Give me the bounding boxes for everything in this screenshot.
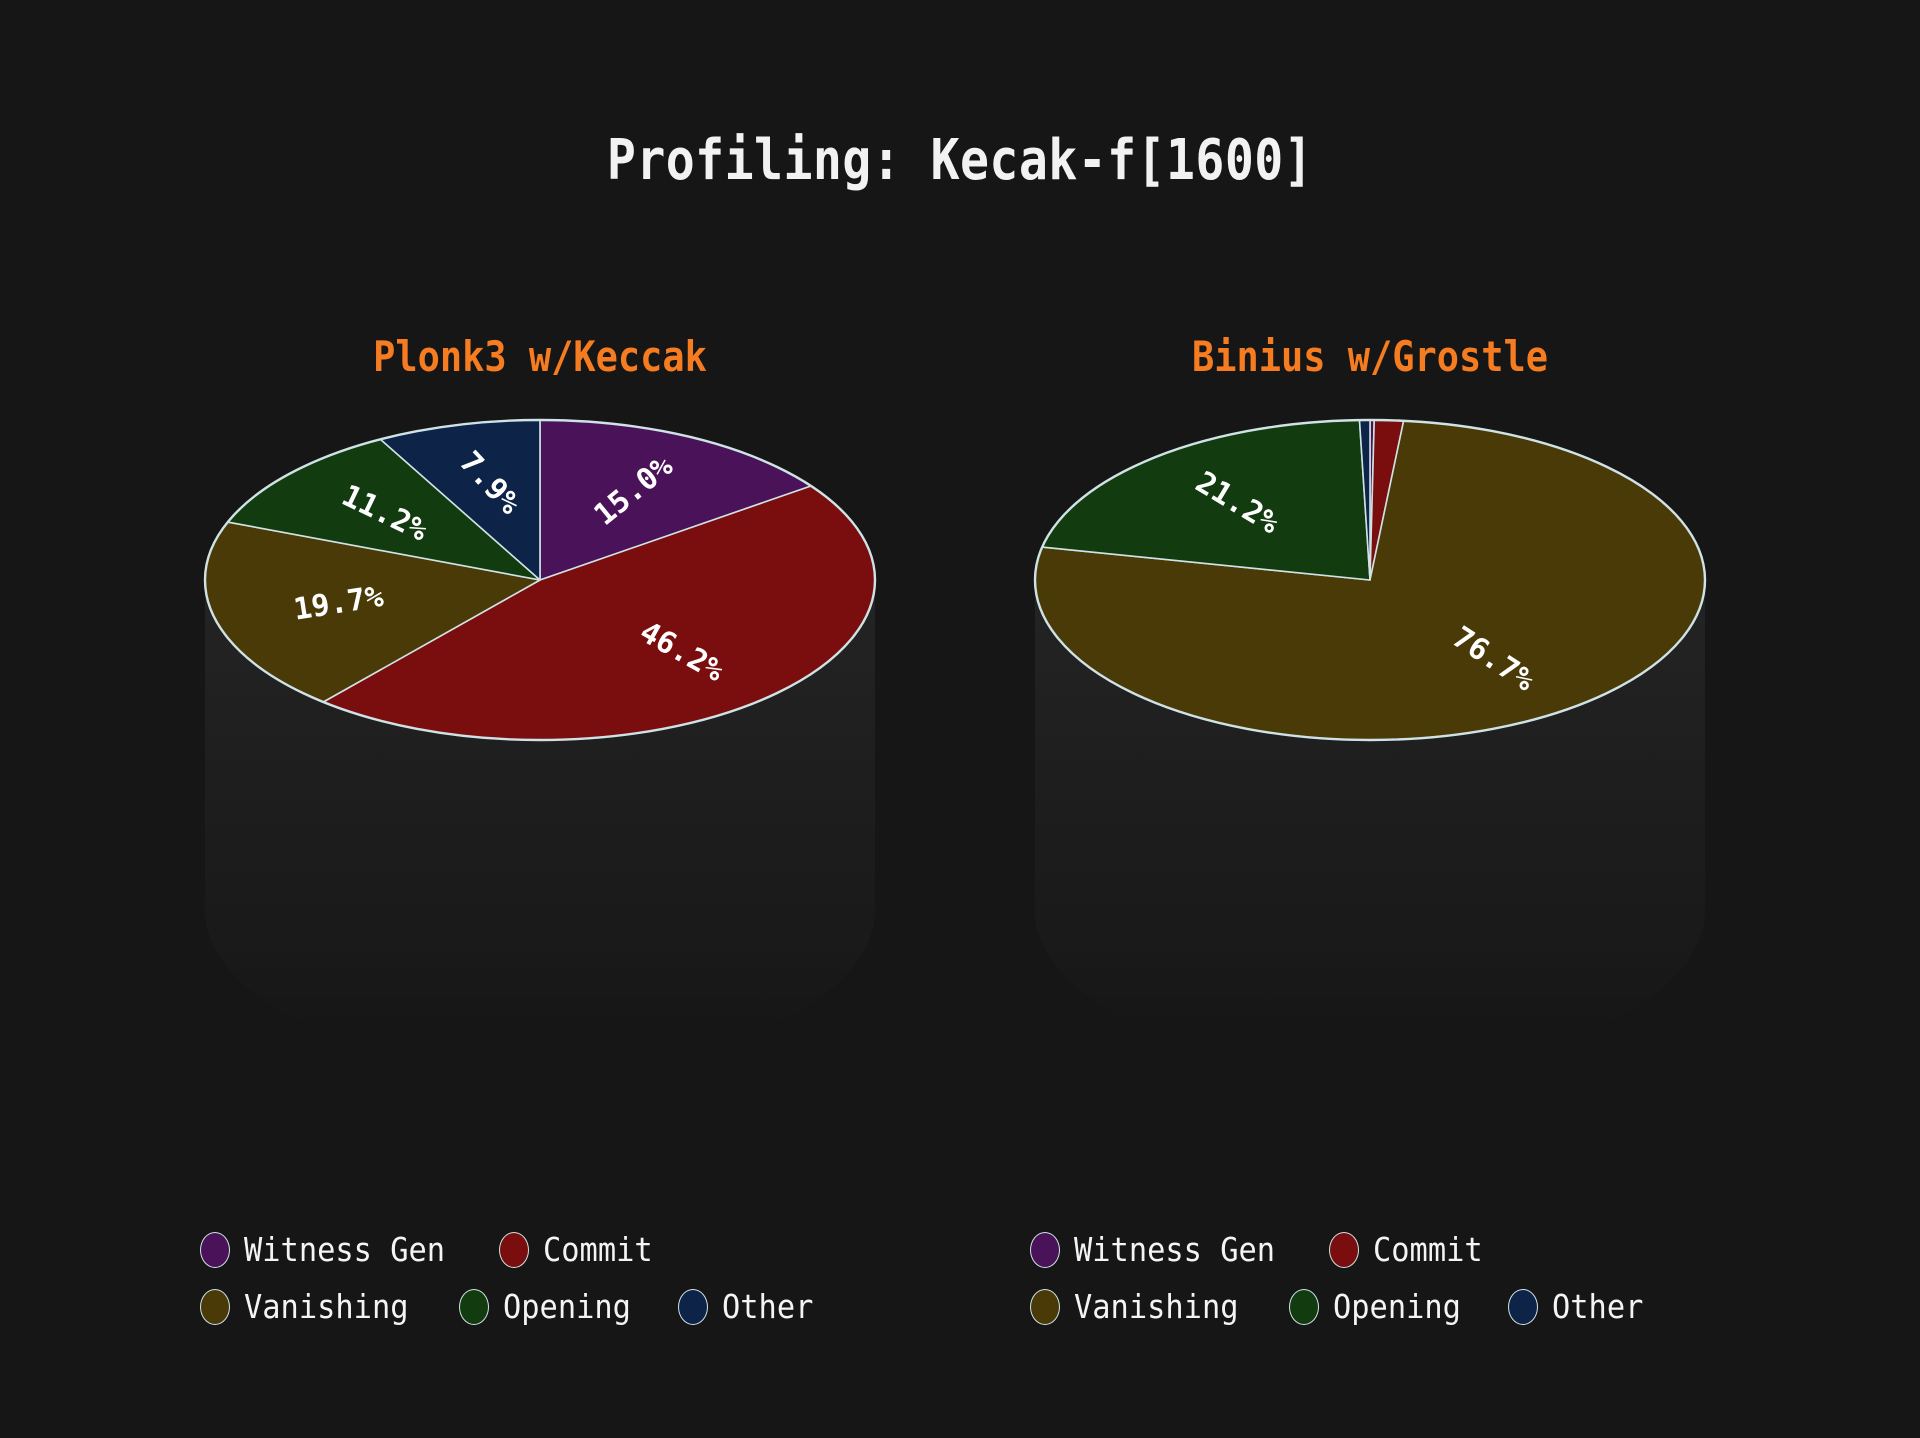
legend-label-opening: Opening: [1333, 1287, 1461, 1326]
legend-dot-vanishing: [1030, 1289, 1060, 1325]
legend-dot-witness-gen: [200, 1232, 230, 1268]
legend-label-commit: Commit: [1373, 1230, 1483, 1269]
chart-subtitle-right: Binius w/Grostle: [974, 332, 1766, 381]
chart-subtitle-left: Plonk3 w/Keccak: [144, 332, 936, 381]
legend-dot-opening: [459, 1289, 489, 1325]
legend-item-other[interactable]: Other: [678, 1287, 821, 1326]
legend-item-commit[interactable]: Commit: [499, 1230, 662, 1269]
legend-label-commit: Commit: [543, 1230, 653, 1269]
legend-label-opening: Opening: [503, 1287, 631, 1326]
legend-dot-other: [1508, 1289, 1538, 1325]
pie-chart-right: 76.7%21.2%: [920, 380, 1820, 940]
legend-label-other: Other: [1552, 1287, 1643, 1326]
legend-row-2: Vanishing Opening Other: [920, 1287, 1820, 1326]
legend-item-vanishing[interactable]: Vanishing: [90, 1287, 423, 1326]
legend-label-other: Other: [722, 1287, 813, 1326]
legend-item-commit[interactable]: Commit: [1329, 1230, 1492, 1269]
legend-label-vanishing: Vanishing: [244, 1287, 409, 1326]
legend-item-witness-gen[interactable]: Witness Gen: [920, 1230, 1293, 1269]
legend-left: Witness Gen Commit Vanishing Opening: [90, 1230, 990, 1326]
legend-item-vanishing[interactable]: Vanishing: [920, 1287, 1253, 1326]
legend-label-vanishing: Vanishing: [1074, 1287, 1239, 1326]
legend-item-opening[interactable]: Opening: [459, 1287, 642, 1326]
legend-dot-opening: [1289, 1289, 1319, 1325]
chart-panel-binius: Binius w/Grostle 76.7%21.2% Witness Gen …: [920, 300, 1820, 1350]
legend-label-witness-gen: Witness Gen: [244, 1230, 445, 1269]
legend-row-1: Witness Gen Commit: [90, 1230, 990, 1269]
page-title: Profiling: Kecak-f[1600]: [134, 128, 1785, 193]
legend-item-opening[interactable]: Opening: [1289, 1287, 1472, 1326]
legend-label-witness-gen: Witness Gen: [1074, 1230, 1275, 1269]
legend-right: Witness Gen Commit Vanishing Opening: [920, 1230, 1820, 1326]
legend-dot-witness-gen: [1030, 1232, 1060, 1268]
legend-row-1: Witness Gen Commit: [920, 1230, 1820, 1269]
chart-canvas: Profiling: Kecak-f[1600] Plonk3 w/Keccak…: [0, 0, 1920, 1438]
pie-chart-left: 15.0%46.2%19.7%11.2%7.9%: [90, 380, 990, 940]
legend-dot-commit: [499, 1232, 529, 1268]
legend-row-2: Vanishing Opening Other: [90, 1287, 990, 1326]
legend-item-witness-gen[interactable]: Witness Gen: [90, 1230, 463, 1269]
legend-dot-commit: [1329, 1232, 1359, 1268]
legend-item-other[interactable]: Other: [1508, 1287, 1651, 1326]
legend-dot-other: [678, 1289, 708, 1325]
legend-dot-vanishing: [200, 1289, 230, 1325]
chart-panel-plonk3: Plonk3 w/Keccak 15.0%46.2%19.7%11.2%7.9%…: [90, 300, 990, 1350]
